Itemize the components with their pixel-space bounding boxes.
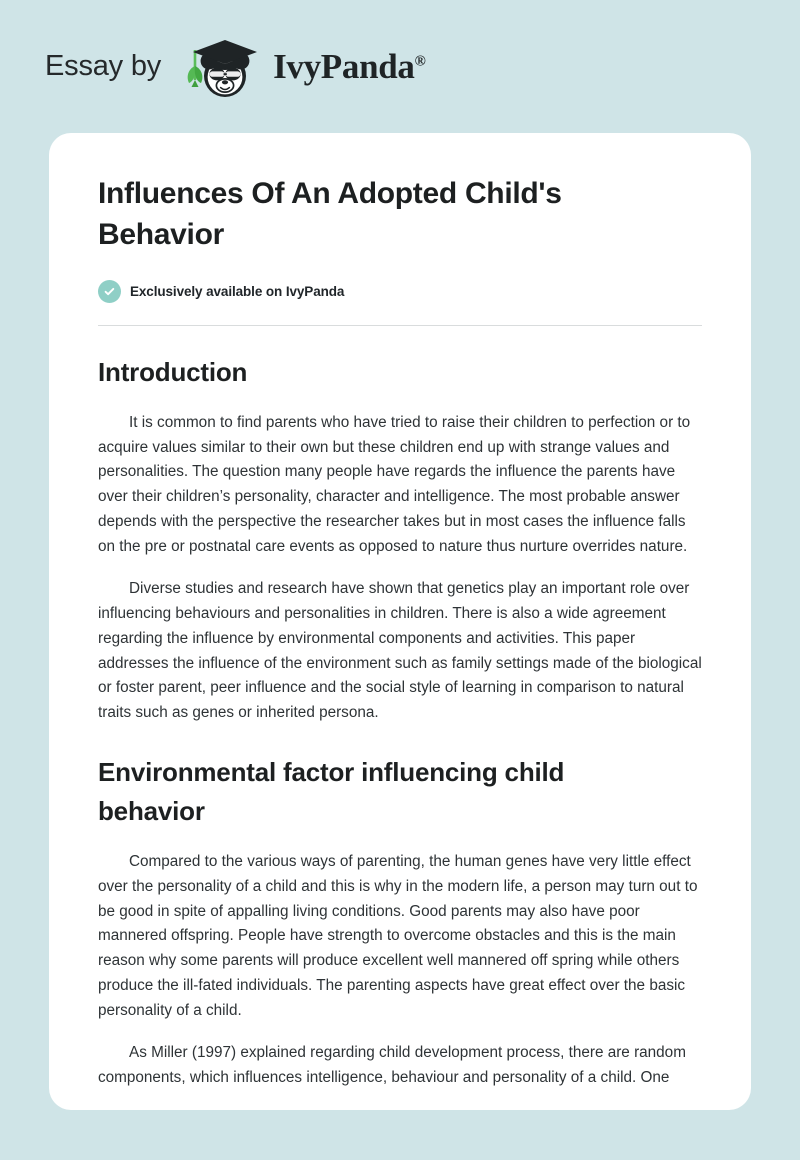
section-environmental-factor: Environmental factor influencing child b… bbox=[98, 753, 702, 1091]
brand-header: Essay by bbox=[0, 0, 800, 133]
status-badge-label: Exclusively available on IvyPanda bbox=[130, 284, 344, 299]
paragraph: It is common to find parents who have tr… bbox=[98, 411, 702, 560]
page-title: Influences Of An Adopted Child's Behavio… bbox=[98, 173, 658, 256]
paragraph: Compared to the various ways of parentin… bbox=[98, 850, 702, 1023]
brand-lockup[interactable]: Essay by bbox=[45, 34, 426, 100]
paragraph: As Miller (1997) explained regarding chi… bbox=[98, 1041, 702, 1091]
status-badge: Exclusively available on IvyPanda bbox=[98, 280, 702, 303]
brand-wordmark: IvyPanda® bbox=[273, 49, 425, 84]
check-circle-icon bbox=[98, 280, 121, 303]
section-heading: Introduction bbox=[98, 353, 658, 392]
brand-name-text: IvyPanda bbox=[273, 47, 415, 86]
section-introduction: Introduction It is common to find parent… bbox=[98, 353, 702, 726]
section-heading: Environmental factor influencing child b… bbox=[98, 753, 658, 831]
paragraph: Diverse studies and research have shown … bbox=[98, 577, 702, 726]
essay-by-label: Essay by bbox=[45, 52, 161, 81]
title-divider bbox=[98, 325, 702, 326]
registered-trademark-icon: ® bbox=[415, 53, 426, 69]
essay-card: Influences Of An Adopted Child's Behavio… bbox=[49, 133, 751, 1110]
panda-graduate-icon bbox=[175, 34, 261, 100]
